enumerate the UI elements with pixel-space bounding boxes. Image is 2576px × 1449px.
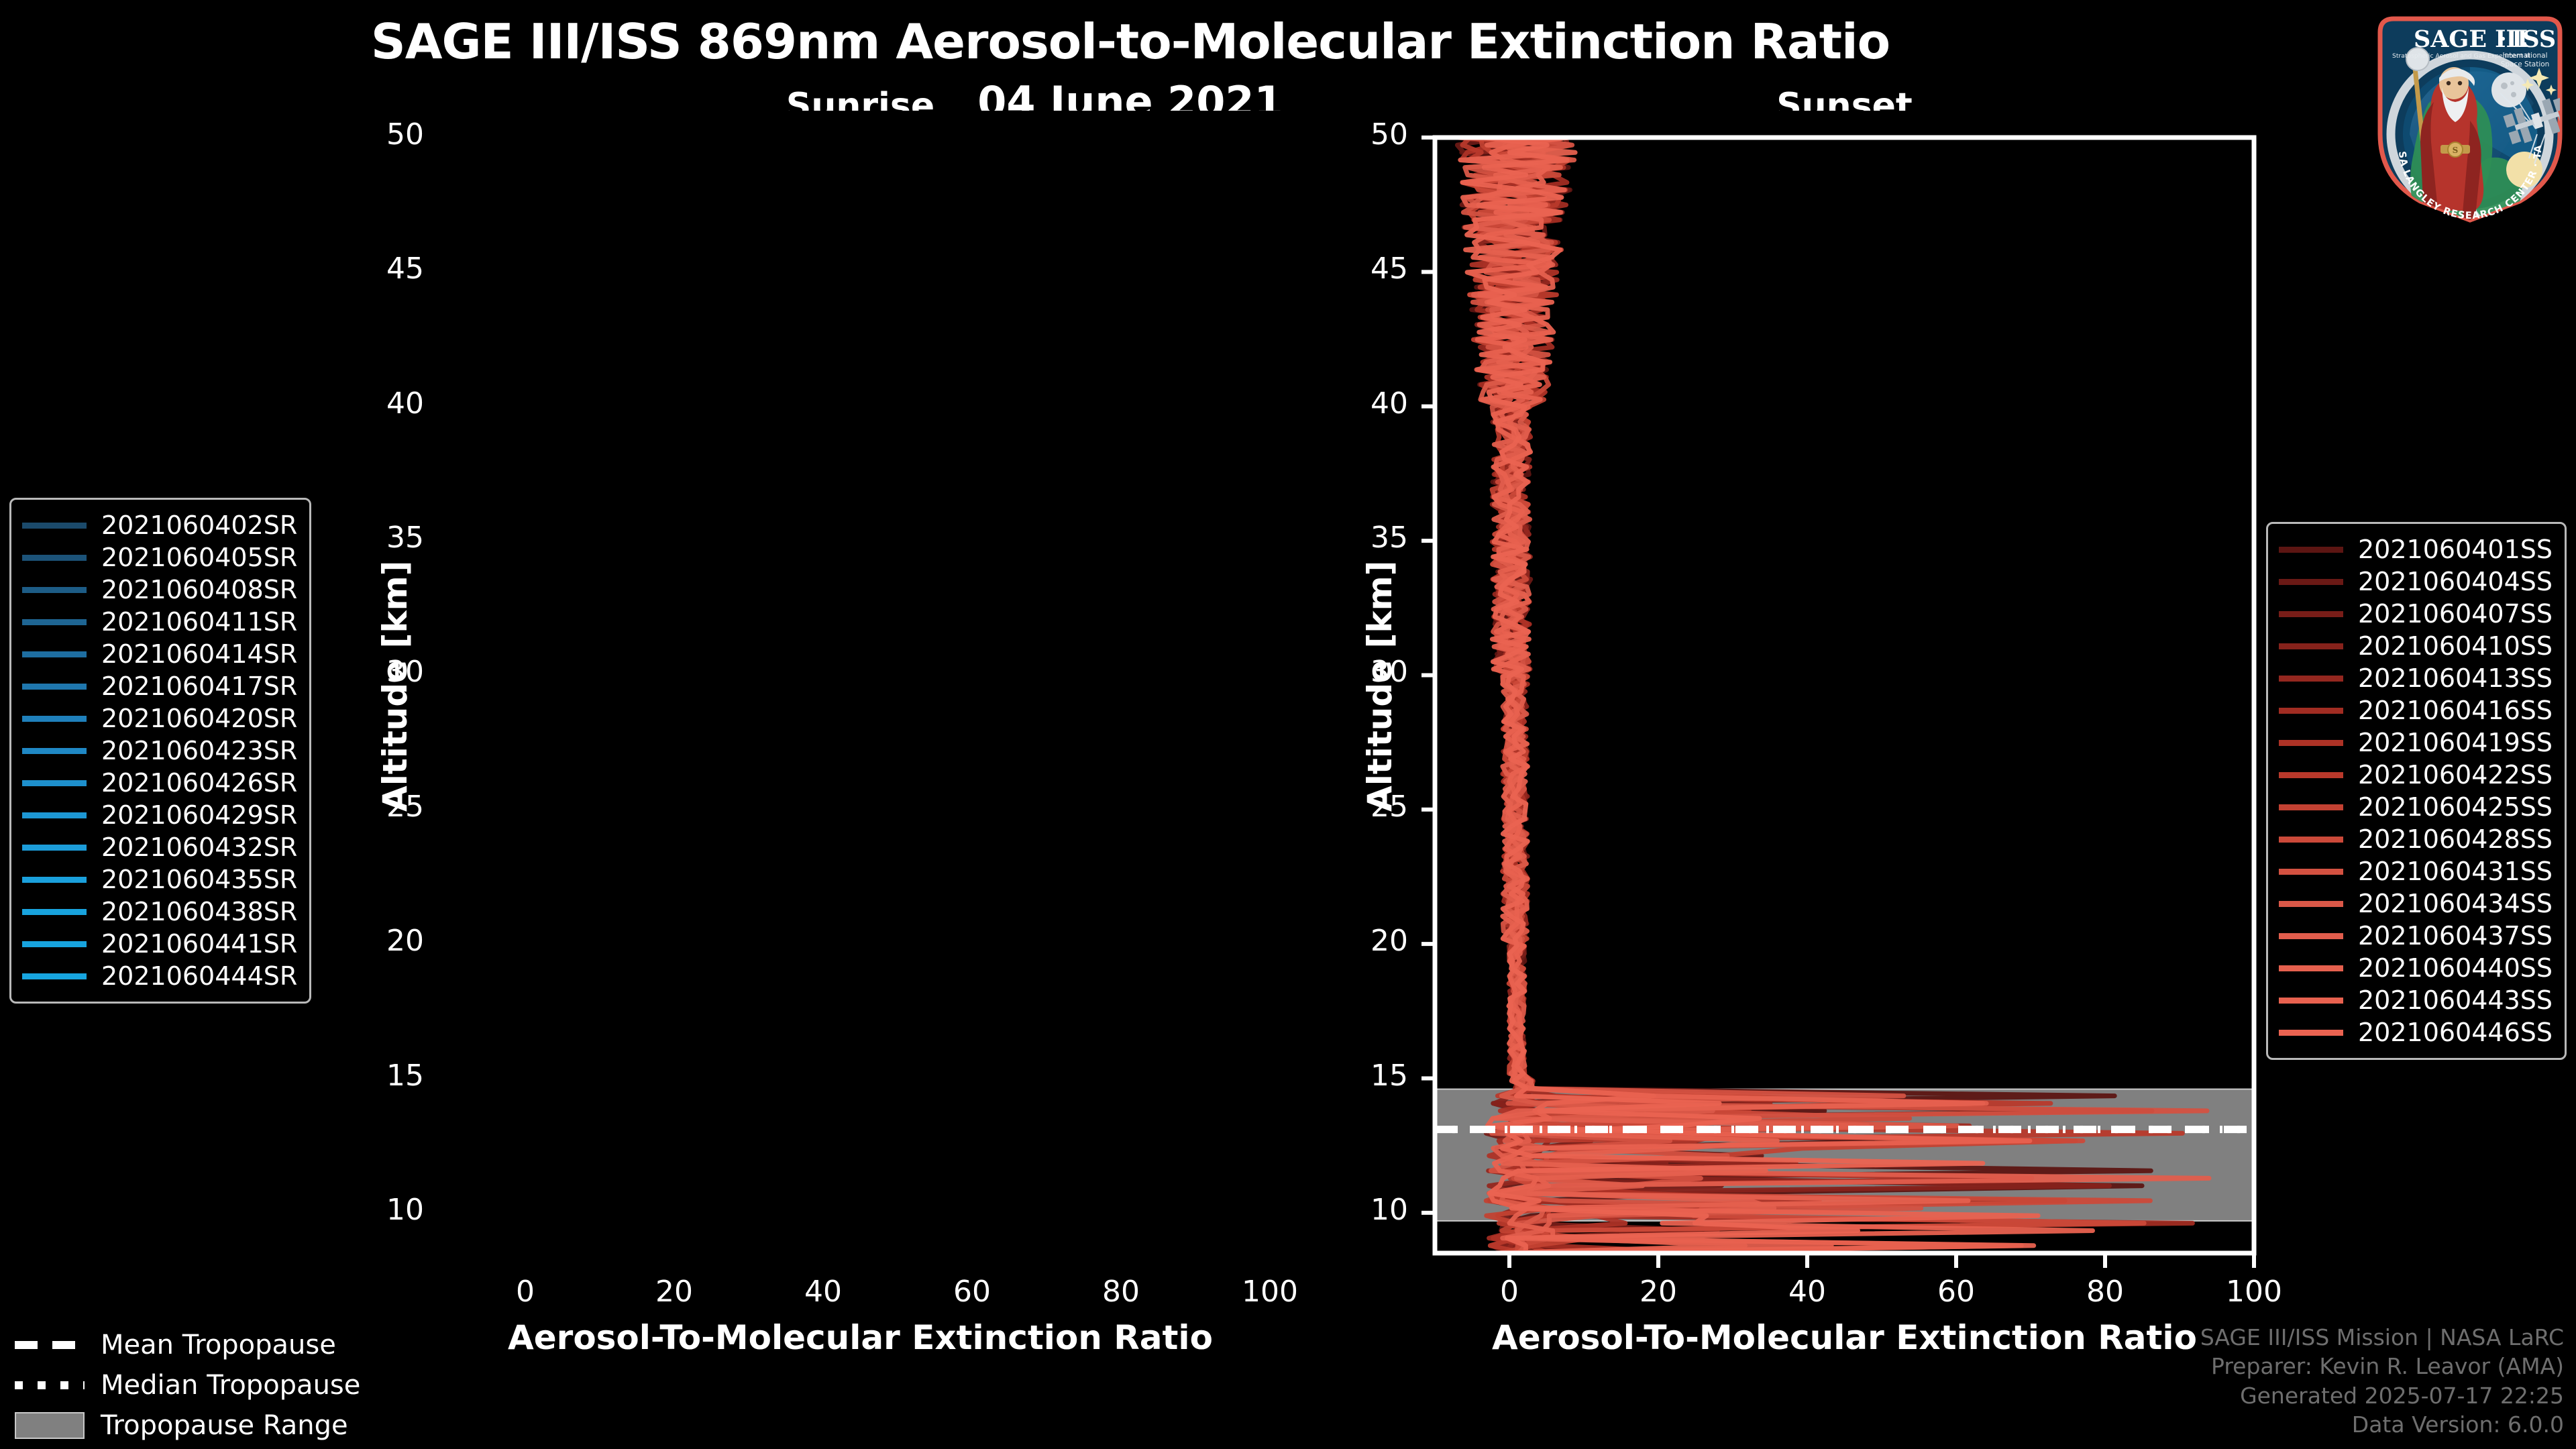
legend-item-label: 2021060440SS xyxy=(2358,953,2553,983)
legend-item[interactable]: 2021060414SR xyxy=(22,638,297,670)
legend-item-label: 2021060435SR xyxy=(101,865,297,894)
legend-color-swatch xyxy=(2279,804,2343,810)
legend-item[interactable]: 2021060420SR xyxy=(22,702,297,735)
profile-line xyxy=(1462,138,2182,1253)
legend-item[interactable]: 2021060444SR xyxy=(22,960,297,992)
legend-color-swatch xyxy=(2279,611,2343,617)
logo-title-dot: · xyxy=(2500,28,2506,51)
x-tick-label: 100 xyxy=(2187,1275,2321,1309)
legend-item-label: 2021060434SS xyxy=(2358,889,2553,918)
legend-item[interactable]: 2021060411SR xyxy=(22,606,297,638)
legend-item-label: 2021060444SR xyxy=(101,961,297,991)
legend-label-median-tropopause: Median Tropopause xyxy=(101,1370,360,1401)
axis-frame xyxy=(451,138,1270,1253)
plot-background xyxy=(1435,138,2254,1253)
legend-color-swatch xyxy=(22,651,87,657)
legend-item[interactable]: 2021060404SS xyxy=(2279,566,2553,598)
y-tick-label: 30 xyxy=(1307,655,1408,689)
legend-color-swatch xyxy=(2279,772,2343,778)
legend-color-swatch xyxy=(2279,740,2343,746)
credits-line-generated: Generated 2025-07-17 22:25 xyxy=(2200,1381,2564,1411)
profile-line xyxy=(1472,138,2193,1253)
x-tick-label: 0 xyxy=(1442,1275,1576,1309)
tropopause-range-band xyxy=(1435,1089,2254,1221)
legend-item-label: 2021060405SR xyxy=(101,543,297,572)
legend-item[interactable]: 2021060416SS xyxy=(2279,694,2553,727)
legend-color-swatch xyxy=(22,748,87,754)
legend-color-swatch xyxy=(2279,643,2343,649)
legend-item-label: 2021060438SR xyxy=(101,897,297,926)
legend-color-swatch xyxy=(2279,837,2343,843)
dashed-line-icon xyxy=(15,1336,85,1354)
profile-line xyxy=(1463,138,2207,1253)
legend-row-mean-tropopause: Mean Tropopause xyxy=(15,1325,360,1365)
profile-line xyxy=(486,138,663,1253)
legend-item[interactable]: 2021060428SS xyxy=(2279,823,2553,855)
sunrise-legend[interactable]: 2021060402SR2021060405SR2021060408SR2021… xyxy=(9,498,311,1004)
legend-item[interactable]: 2021060402SR xyxy=(22,509,297,541)
profile-line xyxy=(1464,138,1721,1253)
legend-item[interactable]: 2021060438SR xyxy=(22,896,297,928)
logo-subtitle-right-2: Space Station xyxy=(2501,60,2550,68)
y-tick-label: 15 xyxy=(323,1059,424,1093)
legend-item-label: 2021060437SS xyxy=(2358,921,2553,951)
plot-background xyxy=(451,138,1270,1253)
profile-line xyxy=(1462,138,2076,1253)
legend-color-swatch xyxy=(2279,708,2343,714)
legend-item-label: 2021060441SR xyxy=(101,929,297,959)
x-tick-label: 80 xyxy=(1054,1275,1188,1309)
legend-color-swatch xyxy=(22,684,87,690)
legend-item-label: 2021060428SS xyxy=(2358,824,2553,854)
legend-item-label: 2021060410SS xyxy=(2358,631,2553,661)
legend-item[interactable]: 2021060408SR xyxy=(22,574,297,606)
legend-item[interactable]: 2021060407SS xyxy=(2279,598,2553,630)
legend-item[interactable]: 2021060405SR xyxy=(22,541,297,574)
profile-line xyxy=(472,138,584,1253)
legend-item-label: 2021060419SS xyxy=(2358,728,2553,757)
legend-item[interactable]: 2021060443SS xyxy=(2279,984,2553,1016)
legend-color-swatch xyxy=(2279,547,2343,553)
legend-item-label: 2021060402SR xyxy=(101,511,297,540)
credits-line-data-version: Data Version: 6.0.0 xyxy=(2200,1410,2564,1440)
legend-color-swatch xyxy=(22,973,87,979)
profile-traces-sunrise xyxy=(471,138,688,1253)
y-tick-label: 40 xyxy=(323,386,424,421)
y-tick-label: 20 xyxy=(1307,924,1408,958)
y-tick-label: 45 xyxy=(1307,252,1408,286)
legend-color-swatch xyxy=(2279,965,2343,971)
legend-color-swatch xyxy=(22,845,87,851)
x-tick-label: 20 xyxy=(1591,1275,1725,1309)
profile-line xyxy=(1460,138,1983,1253)
x-tick-label: 80 xyxy=(2038,1275,2172,1309)
profile-line xyxy=(483,138,678,1253)
legend-item[interactable]: 2021060413SS xyxy=(2279,662,2553,694)
profile-line xyxy=(1460,138,2150,1253)
legend-item-label: 2021060411SR xyxy=(101,607,297,637)
legend-item-label: 2021060416SS xyxy=(2358,696,2553,725)
legend-item-label: 2021060401SS xyxy=(2358,535,2553,564)
profile-line xyxy=(471,138,628,1253)
legend-item-label: 2021060446SS xyxy=(2358,1018,2553,1047)
logo-title-sage: SAGE III xyxy=(2414,25,2528,53)
legend-color-swatch xyxy=(22,780,87,786)
legend-color-swatch xyxy=(2279,901,2343,907)
profile-line xyxy=(1465,138,1957,1253)
legend-row-median-tropopause: Median Tropopause xyxy=(15,1365,360,1405)
legend-color-swatch xyxy=(2279,998,2343,1004)
y-tick-label: 50 xyxy=(323,117,424,152)
legend-item[interactable]: 2021060432SR xyxy=(22,831,297,863)
profile-line xyxy=(474,138,626,1253)
legend-color-swatch xyxy=(22,587,87,593)
y-tick-label: 20 xyxy=(323,924,424,958)
legend-item-label: 2021060414SR xyxy=(101,639,297,669)
legend-color-swatch xyxy=(2279,1030,2343,1036)
logo-subtitle-right-1: International xyxy=(2502,52,2547,60)
x-tick-label: 20 xyxy=(607,1275,741,1309)
legend-color-swatch xyxy=(22,523,87,529)
profile-line xyxy=(482,138,596,1253)
legend-item-label: 2021060431SS xyxy=(2358,857,2553,886)
legend-item-label: 2021060425SS xyxy=(2358,792,2553,822)
legend-color-swatch xyxy=(22,909,87,915)
legend-item[interactable]: 2021060440SS xyxy=(2279,952,2553,984)
legend-item-label: 2021060423SR xyxy=(101,736,297,765)
legend-item-label: 2021060426SR xyxy=(101,768,297,798)
legend-color-swatch xyxy=(22,812,87,818)
legend-item[interactable]: 2021060419SS xyxy=(2279,727,2553,759)
y-tick-label: 35 xyxy=(323,521,424,555)
y-tick-label: 40 xyxy=(1307,386,1408,421)
x-tick-label: 100 xyxy=(1203,1275,1337,1309)
legend-label-mean-tropopause: Mean Tropopause xyxy=(101,1330,336,1360)
sunset-xaxis-label: Aerosol-To-Molecular Extinction Ratio xyxy=(1435,1318,2254,1357)
profile-line xyxy=(480,138,655,1253)
tropopause-legend: Mean Tropopause Median Tropopause Tropop… xyxy=(15,1325,360,1446)
legend-item[interactable]: 2021060426SR xyxy=(22,767,297,799)
legend-color-swatch xyxy=(2279,869,2343,875)
legend-color-swatch xyxy=(22,877,87,883)
y-tick-label: 25 xyxy=(1307,790,1408,824)
sunrise-panel-title: Sunrise xyxy=(451,86,1270,126)
legend-row-tropopause-range: Tropopause Range xyxy=(15,1405,360,1446)
legend-color-swatch xyxy=(22,941,87,947)
sunset-panel-title: Sunset xyxy=(1435,86,2254,126)
legend-item[interactable]: 2021060437SS xyxy=(2279,920,2553,952)
legend-item[interactable]: 2021060423SR xyxy=(22,735,297,767)
legend-item-label: 2021060408SR xyxy=(101,575,297,604)
profile-line xyxy=(1467,138,2092,1253)
axis-frame xyxy=(1435,138,2254,1253)
y-tick-label: 10 xyxy=(323,1193,424,1227)
profile-line xyxy=(472,138,666,1253)
profile-line xyxy=(486,138,639,1253)
profile-line xyxy=(1474,138,2109,1253)
gray-band-icon xyxy=(15,1417,85,1434)
legend-item-label: 2021060417SR xyxy=(101,672,297,701)
legend-item[interactable]: 2021060435SR xyxy=(22,863,297,896)
y-tick-label: 25 xyxy=(323,790,424,824)
x-tick-label: 60 xyxy=(1889,1275,2023,1309)
profile-line xyxy=(1457,138,2152,1253)
profile-line xyxy=(1465,138,2209,1253)
legend-item[interactable]: 2021060434SS xyxy=(2279,888,2553,920)
legend-color-swatch xyxy=(22,619,87,625)
legend-item-label: 2021060443SS xyxy=(2358,985,2553,1015)
legend-item[interactable]: 2021060401SS xyxy=(2279,533,2553,566)
profile-line xyxy=(487,138,580,1253)
legend-color-swatch xyxy=(2279,579,2343,585)
y-tick-label: 30 xyxy=(323,655,424,689)
legend-item[interactable]: 2021060425SS xyxy=(2279,791,2553,823)
legend-color-swatch xyxy=(22,716,87,722)
sunrise-xaxis-label: Aerosol-To-Molecular Extinction Ratio xyxy=(451,1318,1270,1357)
legend-item[interactable]: 2021060429SR xyxy=(22,799,297,831)
legend-item-label: 2021060429SR xyxy=(101,800,297,830)
dotted-line-icon xyxy=(15,1377,85,1394)
profile-line xyxy=(477,138,688,1253)
profile-traces-sunset xyxy=(1457,138,2209,1253)
legend-item[interactable]: 2021060441SR xyxy=(22,928,297,960)
legend-item[interactable]: 2021060410SS xyxy=(2279,630,2553,662)
profile-line xyxy=(1462,138,1983,1253)
x-tick-label: 60 xyxy=(905,1275,1039,1309)
legend-item-label: 2021060407SS xyxy=(2358,599,2553,629)
profile-line xyxy=(1461,138,2031,1253)
y-tick-label: 45 xyxy=(323,252,424,286)
tropopause-range-band xyxy=(451,1140,1270,1237)
legend-color-swatch xyxy=(22,555,87,561)
legend-item-label: 2021060420SR xyxy=(101,704,297,733)
y-tick-label: 15 xyxy=(1307,1059,1408,1093)
y-tick-label: 50 xyxy=(1307,117,1408,152)
legend-item[interactable]: 2021060422SS xyxy=(2279,759,2553,791)
profile-line xyxy=(474,138,608,1253)
credits-line-mission: SAGE III/ISS Mission | NASA LaRC xyxy=(2200,1323,2564,1352)
legend-color-swatch xyxy=(2279,933,2343,939)
legend-color-swatch xyxy=(2279,676,2343,682)
profile-line xyxy=(476,138,667,1253)
y-tick-label: 10 xyxy=(1307,1193,1408,1227)
legend-item-label: 2021060432SR xyxy=(101,833,297,862)
legend-item-label: 2021060422SS xyxy=(2358,760,2553,790)
profile-line xyxy=(1458,138,1796,1253)
legend-item-label: 2021060413SS xyxy=(2358,663,2553,693)
page-title: SAGE III/ISS 869nm Aerosol-to-Molecular … xyxy=(0,13,2576,70)
profile-line xyxy=(1462,138,2151,1253)
x-tick-label: 40 xyxy=(1740,1275,1874,1309)
sunset-legend[interactable]: 2021060401SS2021060404SS2021060407SS2021… xyxy=(2266,522,2567,1060)
x-tick-label: 40 xyxy=(756,1275,890,1309)
y-tick-label: 35 xyxy=(1307,521,1408,555)
profile-line xyxy=(482,138,663,1253)
sage-iii-iss-mission-logo: S BALL · NASA LANGLEY RESEARCH CENTER · … xyxy=(2369,3,2571,224)
logo-title-iss: ISS xyxy=(2512,25,2556,53)
profile-line xyxy=(472,138,626,1253)
credits-block: SAGE III/ISS Mission | NASA LaRC Prepare… xyxy=(2200,1323,2564,1440)
legend-item[interactable]: 2021060431SS xyxy=(2279,855,2553,888)
credits-line-preparer: Preparer: Kevin R. Leavor (AMA) xyxy=(2200,1352,2564,1381)
svg-text:S: S xyxy=(2453,146,2459,155)
legend-item-label: 2021060404SS xyxy=(2358,567,2553,596)
legend-item[interactable]: 2021060417SR xyxy=(22,670,297,702)
legend-item[interactable]: 2021060446SS xyxy=(2279,1016,2553,1049)
x-tick-label: 0 xyxy=(458,1275,592,1309)
legend-label-tropopause-range: Tropopause Range xyxy=(101,1410,348,1441)
